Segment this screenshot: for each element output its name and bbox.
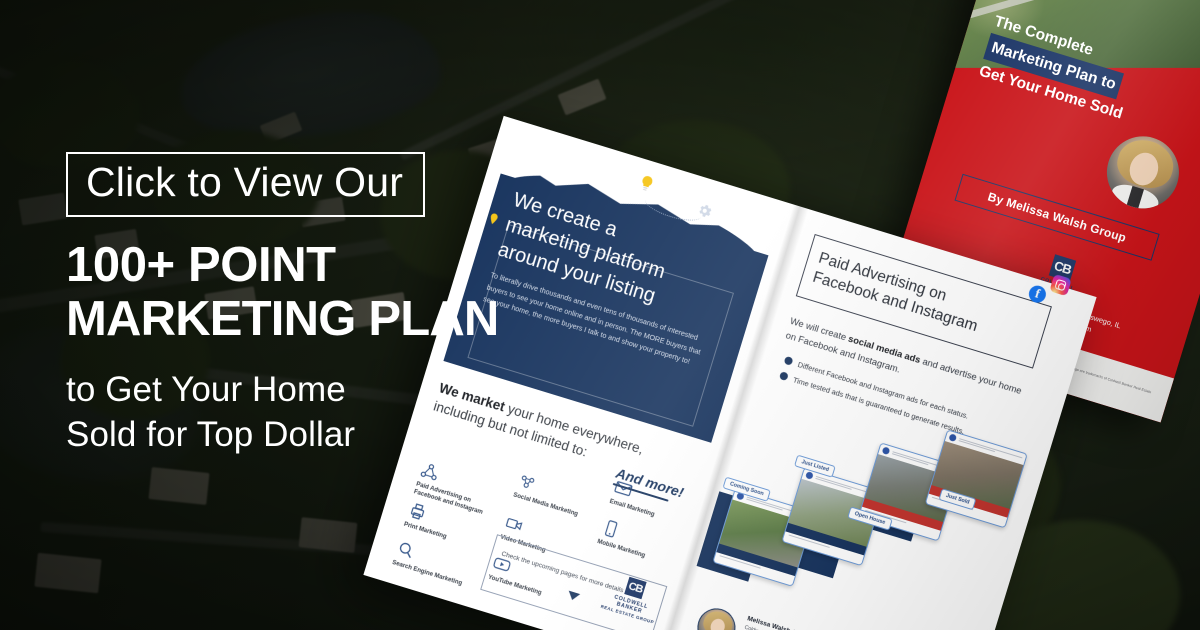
- lightbulb-icon: [636, 173, 657, 194]
- subhead-line-1: to Get Your Home: [66, 368, 536, 412]
- hero-copy-block: Click to View Our 100+ POINT MARKETING P…: [66, 152, 536, 457]
- marketing-banner[interactable]: Click to View Our 100+ POINT MARKETING P…: [0, 0, 1200, 630]
- search-engine-icon: [394, 538, 418, 562]
- print-icon: [406, 500, 430, 524]
- cta-label: Click to View Our: [86, 161, 403, 204]
- channel-label: Search Engine Marketing: [391, 559, 476, 592]
- channel-social-media: Social Media Marketing: [512, 470, 603, 524]
- cb-logo-mark: CB: [624, 577, 646, 599]
- chevron-down-icon: [566, 591, 580, 602]
- headline-line-2: MARKETING PLAN: [66, 293, 536, 347]
- cta-view-button[interactable]: Click to View Our: [66, 152, 425, 217]
- channel-label: Mobile Marketing: [596, 538, 681, 571]
- avatar: [693, 604, 740, 630]
- page-title: 100+ POINT MARKETING PLAN: [66, 239, 536, 347]
- page-subtitle: to Get Your Home Sold for Top Dollar: [66, 368, 536, 456]
- mobile-icon: [599, 517, 623, 541]
- network-icon: [418, 459, 442, 483]
- video-icon: [502, 512, 526, 536]
- social-media-icon: [515, 470, 539, 494]
- headline-line-1: 100+ POINT: [66, 239, 536, 293]
- subhead-line-2: Sold for Top Dollar: [66, 413, 536, 457]
